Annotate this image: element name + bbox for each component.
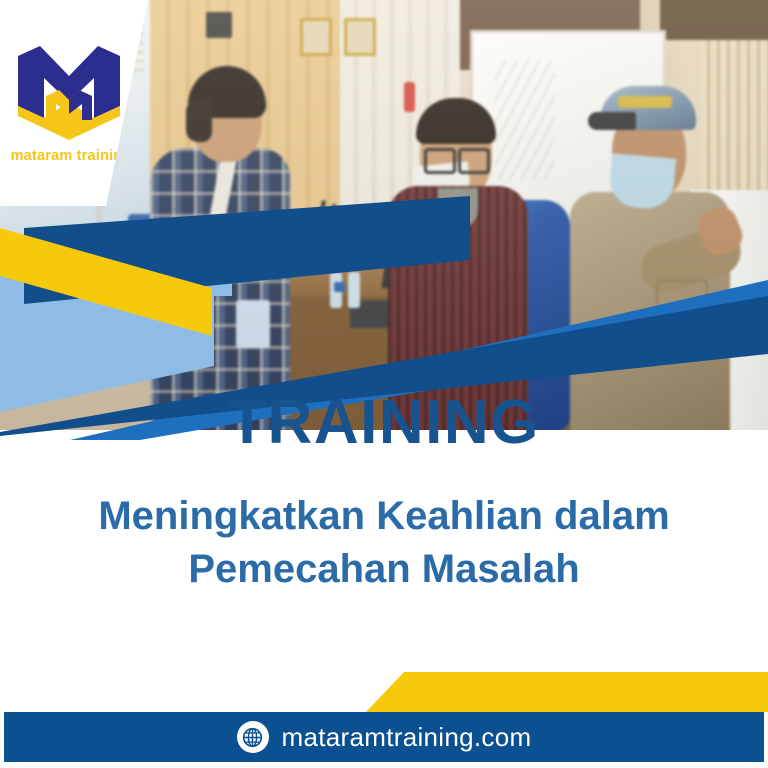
mataram-m-logo-icon xyxy=(16,44,122,142)
page-subtitle-line1: Meningkatkan Keahlian dalam xyxy=(64,490,704,543)
page-subtitle: Meningkatkan Keahlian dalam Pemecahan Ma… xyxy=(64,490,704,596)
globe-icon xyxy=(237,721,269,753)
page-title: TRAINING xyxy=(0,392,768,454)
footer-yellow-accent xyxy=(340,672,768,712)
page-subtitle-line2: Pemecahan Masalah xyxy=(64,543,704,596)
poster-canvas: mataram training TRAINING Meningkatkan K… xyxy=(0,0,768,768)
footer-bar: mataramtraining.com xyxy=(4,712,764,762)
footer-website[interactable]: mataramtraining.com xyxy=(282,722,532,753)
